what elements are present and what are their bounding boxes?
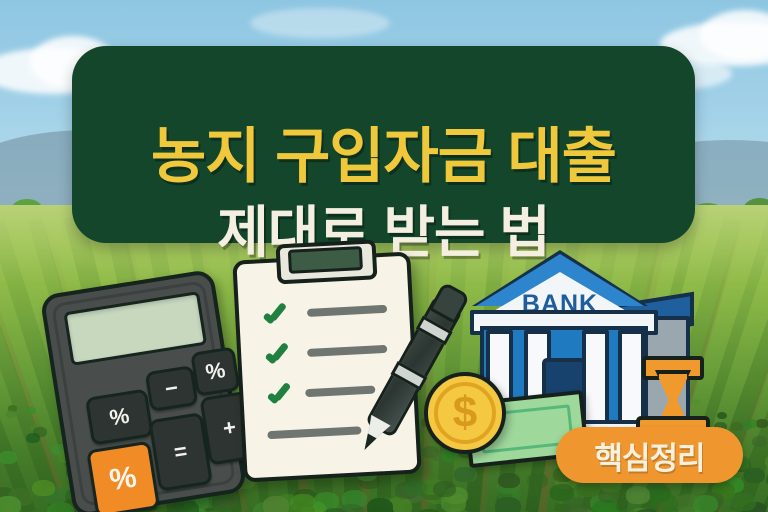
- gold-coin-illustration: $: [424, 372, 506, 454]
- crop-leaf: [562, 497, 588, 512]
- crop-leaf: [717, 412, 728, 420]
- crop-leaf: [32, 480, 55, 497]
- thumbnail-canvas: 농지 구입자금 대출 제대로 받는 법 % − % % = +: [0, 0, 768, 512]
- calculator-illustration: % − % % = +: [39, 269, 247, 512]
- crop-leaf: [498, 473, 520, 489]
- calc-key-percent-2[interactable]: %: [190, 346, 240, 396]
- crop-leaf: [33, 427, 47, 437]
- crop-leaf: [26, 407, 36, 414]
- crop-leaf: [731, 493, 756, 511]
- checkmark-icon: [265, 382, 292, 409]
- crop-leaf: [0, 451, 17, 464]
- crop-leaf: [756, 419, 768, 428]
- crop-leaf: [527, 473, 549, 489]
- dollar-sign-icon: $: [428, 376, 502, 450]
- checkmark-icon: [261, 302, 288, 329]
- crop-leaf: [404, 480, 427, 497]
- clipboard-clip-inner: [288, 246, 363, 274]
- cloud-shape: [250, 8, 390, 38]
- title-line-1: 농지 구입자금 대출: [72, 108, 695, 195]
- crop-leaf: [288, 502, 315, 512]
- calc-key-minus[interactable]: −: [145, 365, 199, 412]
- crop-leaf: [263, 496, 289, 512]
- crop-leaf: [765, 455, 768, 468]
- crop-leaf: [6, 410, 17, 418]
- crop-leaf: [454, 467, 475, 482]
- title-panel: 농지 구입자금 대출 제대로 받는 법: [72, 46, 695, 243]
- crop-leaf: [731, 422, 744, 431]
- crop-leaf: [433, 481, 456, 498]
- highlight-badge[interactable]: 핵심정리: [556, 427, 743, 483]
- crop-leaf: [626, 486, 650, 503]
- highlight-badge-label: 핵심정리: [594, 433, 704, 478]
- checkmark-icon: [263, 342, 290, 369]
- crop-leaf: [367, 498, 393, 512]
- calc-key-percent-accent[interactable]: %: [86, 441, 160, 512]
- calc-key-percent[interactable]: %: [85, 389, 154, 446]
- crop-leaf: [693, 495, 718, 512]
- crop-leaf: [752, 436, 767, 447]
- crop-leaf: [653, 494, 678, 512]
- crop-leaf: [0, 496, 21, 512]
- crop-leaf: [745, 419, 757, 428]
- crop-leaf: [495, 497, 521, 512]
- bank-column: [582, 330, 609, 432]
